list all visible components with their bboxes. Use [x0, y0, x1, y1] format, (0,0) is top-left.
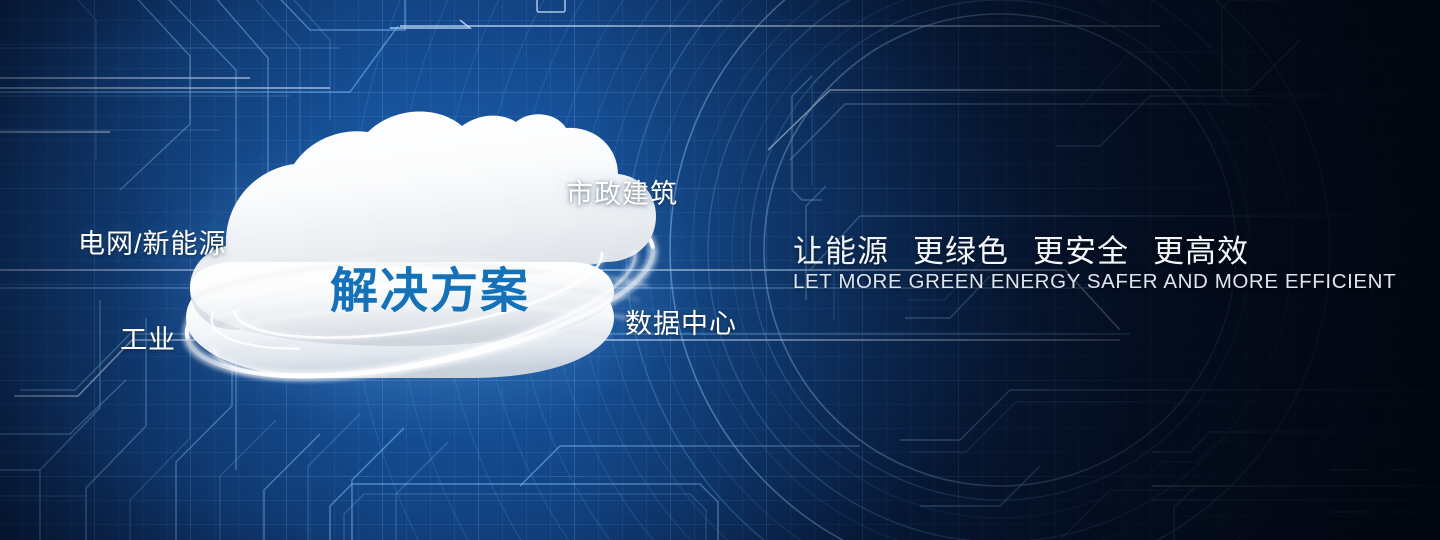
headline: 让能源更绿色更安全更高效: [793, 226, 1249, 271]
solution-banner: 电网/新能源 工业 市政建筑 数据中心 解决方案 让能源更绿色更安全更高效 LE…: [0, 0, 1440, 540]
headline-part-4: 更高效: [1153, 234, 1249, 269]
label-data-center: 数据中心: [625, 302, 737, 341]
cloud-title: 解决方案: [330, 251, 530, 321]
label-municipal-building: 市政建筑: [566, 172, 678, 211]
headline-part-2: 更绿色: [913, 234, 1009, 269]
headline-part-1: 让能源: [793, 234, 889, 269]
label-grid-new-energy: 电网/新能源: [78, 222, 227, 261]
label-industry: 工业: [120, 318, 176, 357]
subheadline: LET MORE GREEN ENERGY SAFER AND MORE EFF…: [793, 270, 1396, 294]
headline-part-3: 更安全: [1033, 234, 1129, 269]
